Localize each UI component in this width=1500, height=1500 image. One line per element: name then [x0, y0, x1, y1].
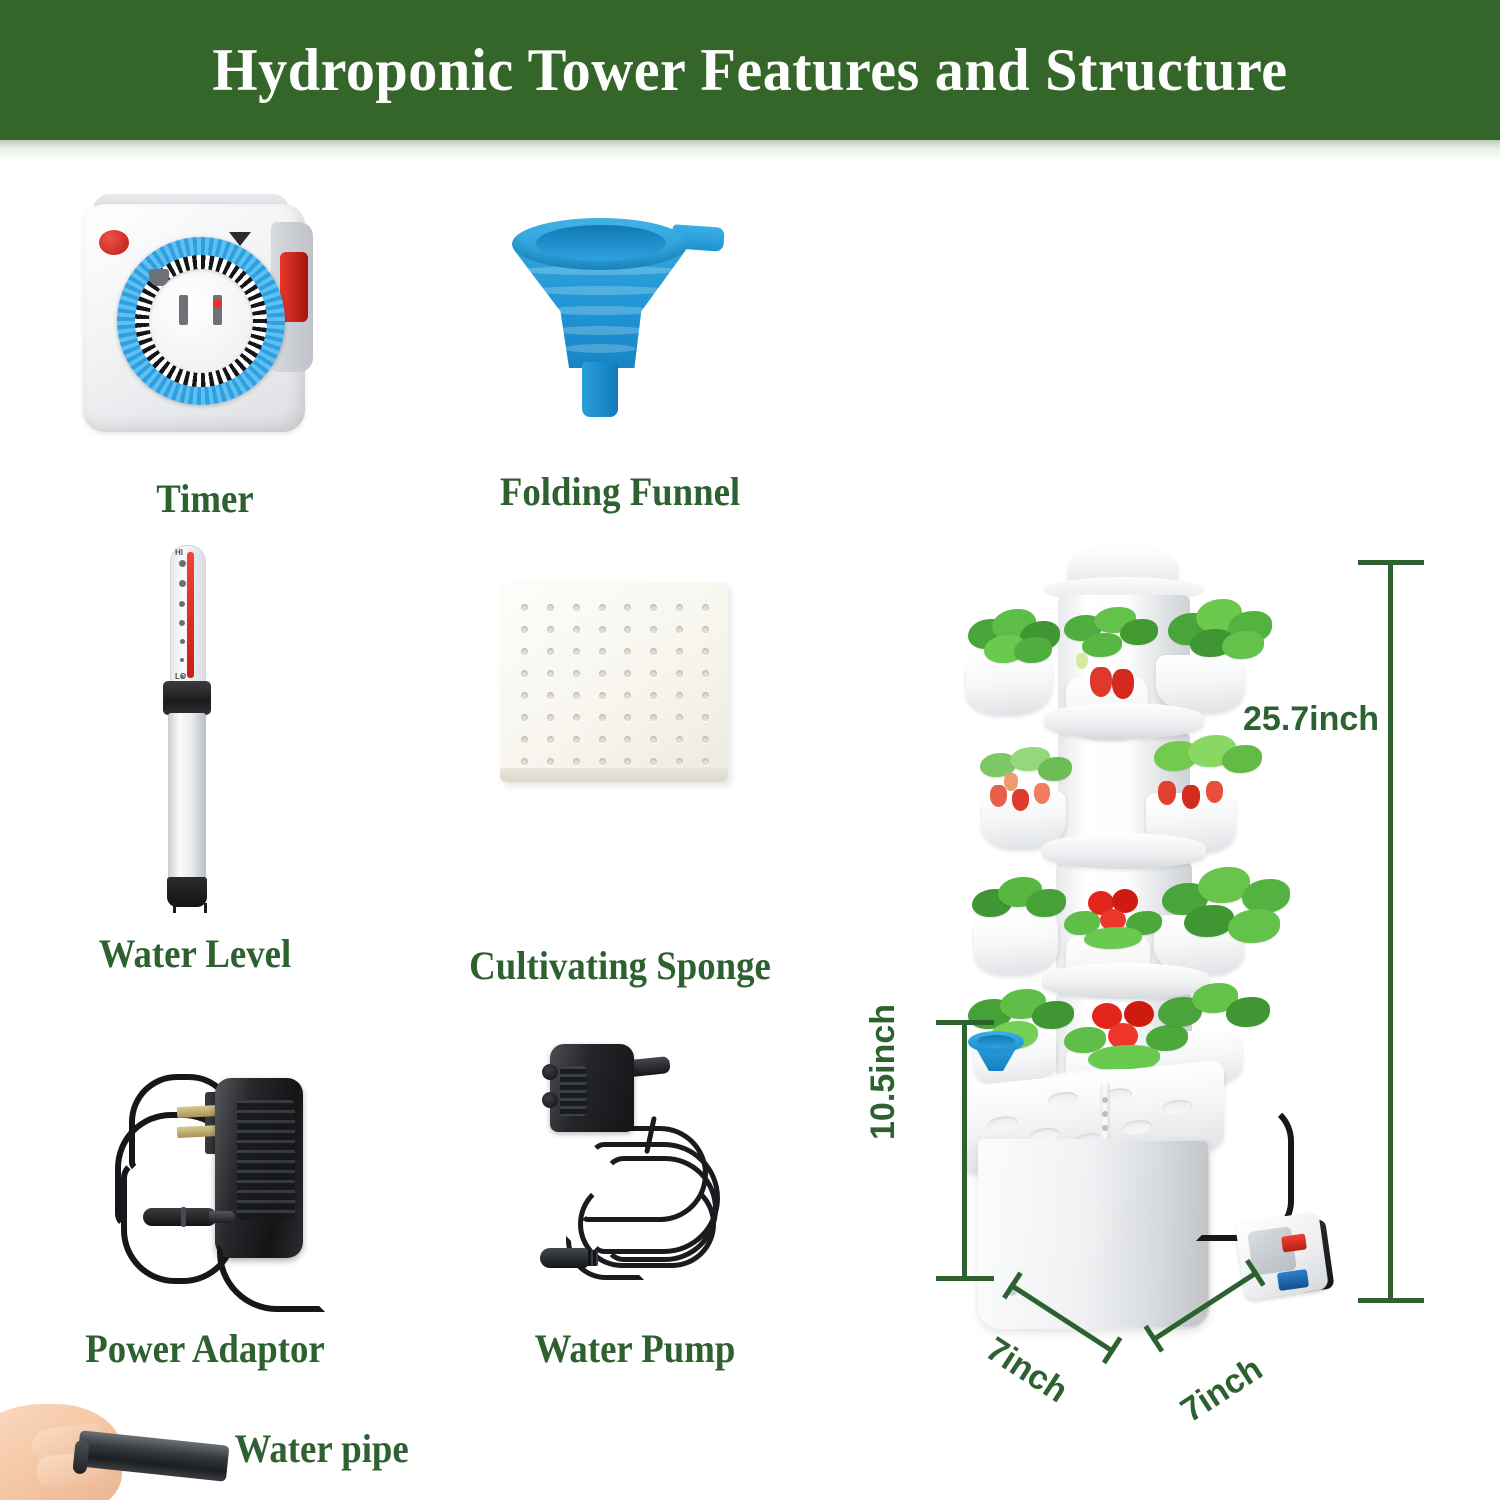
- label-water-pipe: Water pipe: [235, 1425, 456, 1472]
- scale-dot: [179, 601, 185, 607]
- funnel-fold-ring: [530, 286, 670, 295]
- adaptor-dc-plug-ring: [181, 1207, 186, 1227]
- lid-plant-hole: [1048, 1091, 1078, 1108]
- page-title: Hydroponic Tower Features and Structure: [23, 0, 1478, 140]
- tower-collar: [1044, 703, 1204, 739]
- adaptor-vent-fins: [237, 1100, 295, 1220]
- funnel-fold-ring: [554, 326, 646, 335]
- power-adaptor-product-image: [85, 1040, 365, 1310]
- dimension-cap-top: [1358, 560, 1424, 565]
- plant-leafy-green: [1156, 981, 1274, 1053]
- water-level-float-indicator: [187, 552, 194, 678]
- dimension-cap-bottom: [936, 1276, 994, 1281]
- sponge-hole-grid: [512, 596, 718, 772]
- pump-dc-connector: [540, 1248, 588, 1268]
- timer-dial-ring: [117, 237, 285, 405]
- scale-dot: [180, 639, 185, 644]
- outlet-ground-slot-icon: [149, 269, 169, 286]
- dimension-line-tank-height: [962, 1022, 967, 1280]
- folding-funnel-product-image: [500, 210, 730, 425]
- water-level-lo-label: LO: [175, 672, 186, 681]
- plant-strawberry: [976, 745, 1082, 823]
- adaptor-output-cable: [217, 1244, 325, 1312]
- label-water-level: Water Level: [71, 930, 319, 977]
- cultivating-sponge-product-image: [500, 582, 732, 794]
- plant-lettuce: [962, 605, 1072, 667]
- pump-suction-cup: [542, 1064, 558, 1080]
- infographic-page: Hydroponic Tower Features and Structure …: [0, 0, 1500, 1500]
- label-folding-funnel: Folding Funnel: [482, 468, 758, 515]
- adaptor-dc-plug: [143, 1208, 217, 1226]
- pump-outlet-nozzle: [629, 1056, 671, 1077]
- funnel-fold-ring: [564, 344, 636, 353]
- scale-dot: [179, 580, 186, 587]
- water-level-product-image: HI LO: [150, 545, 240, 905]
- water-level-collar: [163, 681, 211, 715]
- dimension-label-height: 25.7inch: [1243, 700, 1379, 739]
- label-water-pump: Water Pump: [492, 1325, 777, 1372]
- dimension-line-height: [1388, 562, 1393, 1302]
- scale-dot: [180, 658, 184, 662]
- timer-outlet-face: [149, 269, 253, 373]
- water-level-foot-cap: [167, 877, 207, 907]
- funnel-rim: [512, 218, 688, 270]
- water-level-hi-label: HI: [175, 548, 183, 557]
- sponge-bottom-edge: [500, 768, 728, 782]
- lid-plant-hole: [1162, 1099, 1192, 1116]
- scale-dot: [179, 620, 185, 626]
- timer-switch: [1281, 1233, 1307, 1252]
- label-power-adaptor: Power Adaptor: [53, 1325, 357, 1372]
- timer-dial-scale: [135, 255, 267, 387]
- funnel-opening: [977, 1035, 1015, 1048]
- sponge-block: [500, 582, 728, 782]
- dimension-label-tank-height: 10.5inch: [864, 1004, 903, 1140]
- funnel-on-lid: [968, 1031, 1026, 1075]
- dimension-label-width-left: 7inch: [979, 1330, 1075, 1411]
- lid-plant-hole: [988, 1115, 1018, 1132]
- pump-suction-cup: [542, 1092, 558, 1108]
- water-level-clear-tube: HI LO: [170, 545, 206, 687]
- lid-plant-hole: [1122, 1119, 1152, 1136]
- dimension-label-width-right: 7inch: [1174, 1350, 1270, 1431]
- adaptor-dc-plug-tip: [209, 1211, 235, 1223]
- water-pump-product-image: [520, 1030, 770, 1320]
- plant-strawberry: [1140, 735, 1264, 817]
- plant-strawberry: [1060, 607, 1166, 703]
- label-cultivating-sponge: Cultivating Sponge: [454, 942, 785, 989]
- funnel-spout: [582, 362, 618, 417]
- plant-leafy-green: [1166, 597, 1278, 665]
- label-timer: Timer: [90, 475, 320, 522]
- funnel-opening: [536, 225, 666, 261]
- hydroponic-tower-image: [940, 545, 1360, 1315]
- dimension-cap-bottom: [1358, 1298, 1424, 1303]
- dimension-cap-top: [936, 1020, 994, 1025]
- tank-shading: [1090, 1141, 1208, 1327]
- scale-dot: [179, 560, 186, 567]
- timer-dial-marker: [213, 299, 222, 308]
- timer-product-image: [75, 192, 320, 442]
- plant-leafy-green: [970, 875, 1070, 937]
- funnel-rim: [968, 1031, 1024, 1053]
- funnel-fold-ring: [542, 306, 658, 315]
- outlet-slot-left-icon: [179, 295, 188, 325]
- pump-intake-grille: [560, 1066, 586, 1116]
- water-level-body-tube: [168, 713, 206, 885]
- plant-leafy-green: [1154, 863, 1298, 959]
- timer-indicator-button: [99, 230, 129, 255]
